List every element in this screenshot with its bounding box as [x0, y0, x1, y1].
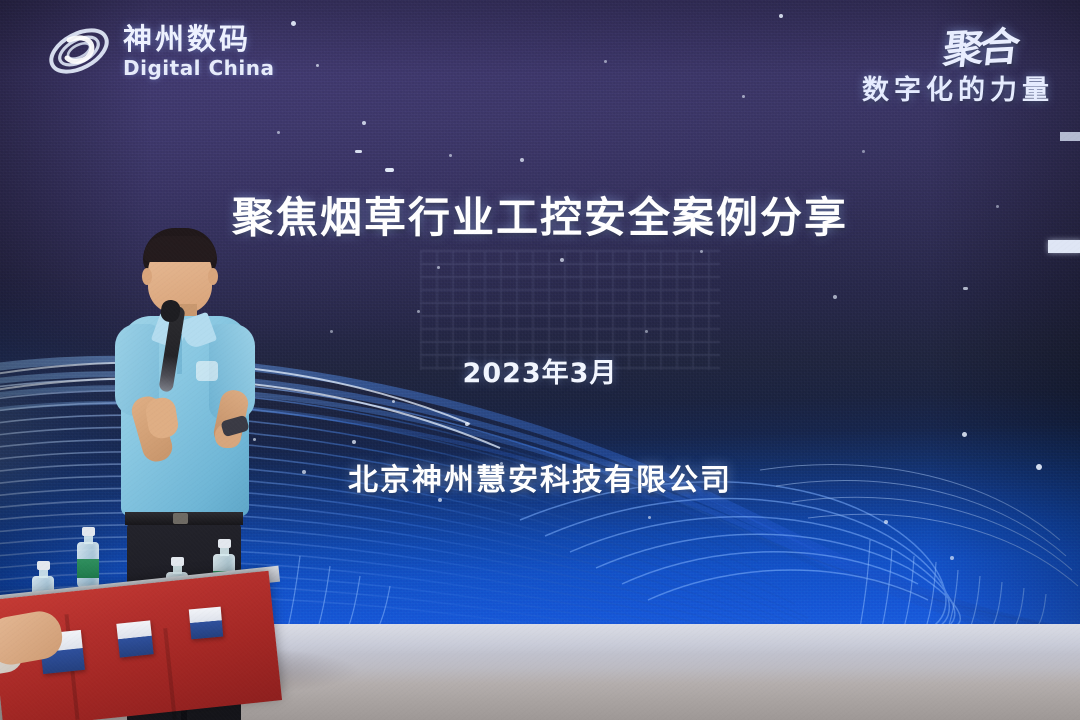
presentation-stage-photo: 聚焦烟草行业工控安全案例分享 2023年3月 北京神州慧安科技有限公司 神州数码…	[0, 0, 1080, 720]
name-card	[189, 607, 223, 640]
digital-china-swirl-icon	[45, 20, 113, 82]
screen-edge-marker	[1048, 240, 1080, 253]
brand-text-block: 神州数码 Digital China	[123, 25, 275, 78]
presenter-ear-left	[142, 268, 152, 285]
presenter-ear-right	[208, 268, 218, 285]
name-card	[116, 620, 153, 657]
brand-name-cn: 神州数码	[123, 25, 275, 54]
digital-china-logo: 神州数码 Digital China	[45, 20, 275, 82]
brand-name-en: Digital China	[123, 58, 275, 78]
event-logo: 聚合 数字化的力量	[862, 16, 1054, 107]
swirl-icon-svg	[45, 20, 113, 82]
presenter-belt-buckle	[173, 513, 188, 524]
screen-edge-marker-secondary	[1060, 132, 1080, 141]
presenter-hair-front	[144, 236, 216, 262]
presenter-chest-logo	[196, 361, 218, 381]
event-logo-calligraphy: 聚合	[941, 14, 1020, 76]
water-bottle	[77, 528, 99, 588]
